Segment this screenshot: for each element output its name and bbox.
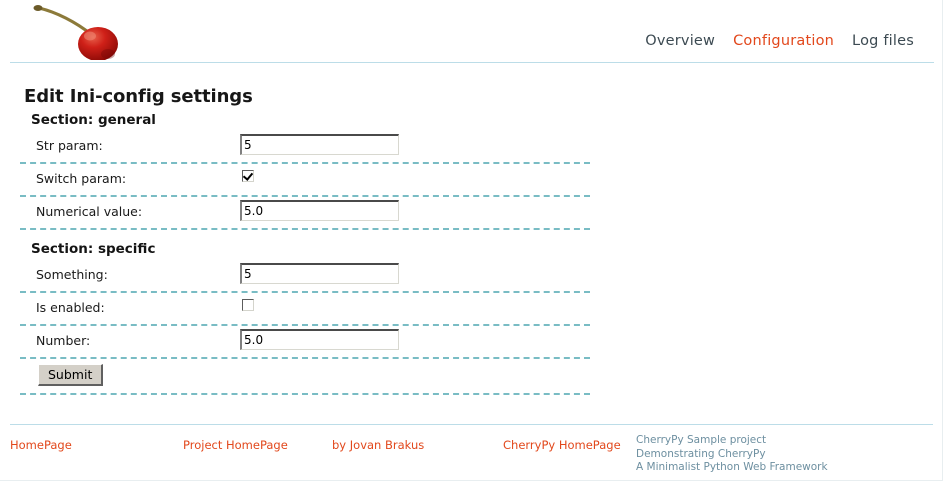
footer-divider [10, 424, 933, 425]
nav-overview[interactable]: Overview [645, 33, 715, 49]
section-heading-general: Section: general [0, 109, 943, 131]
section-heading-specific: Section: specific [0, 230, 943, 260]
footer-link-homepage[interactable]: HomePage [10, 438, 72, 452]
str-param-input[interactable] [240, 134, 399, 155]
field-row-something: Something: [0, 260, 943, 291]
page-root: Overview Configuration Log files Edit In… [0, 0, 943, 481]
is-enabled-checkbox[interactable] [242, 299, 254, 311]
footer-about: CherryPy Sample project Demonstrating Ch… [636, 434, 828, 475]
switch-param-checkbox[interactable] [242, 170, 254, 182]
field-row-is-enabled: Is enabled: [0, 293, 943, 324]
site-header: Overview Configuration Log files [0, 0, 942, 63]
footer-about-line: A Minimalist Python Web Framework [636, 461, 828, 475]
field-label: Switch param: [36, 171, 126, 186]
field-row-number: Number: [0, 326, 943, 357]
number-input[interactable] [240, 329, 399, 350]
field-label: Is enabled: [36, 300, 105, 315]
field-control [240, 329, 399, 350]
submit-button[interactable]: Submit [38, 364, 103, 386]
field-row-switch-param: Switch param: [0, 164, 943, 195]
nav-log-files[interactable]: Log files [852, 33, 914, 49]
header-divider [10, 62, 934, 63]
field-label: Something: [36, 267, 108, 282]
nav-configuration[interactable]: Configuration [733, 33, 834, 49]
page-title: Edit Ini-config settings [24, 86, 253, 107]
main-nav: Overview Configuration Log files [645, 33, 914, 49]
footer-link-cherrypy-homepage[interactable]: CherryPy HomePage [503, 438, 621, 452]
footer-about-line: CherryPy Sample project [636, 434, 828, 448]
submit-row: Submit [0, 359, 943, 393]
cherry-logo [22, 2, 132, 60]
field-control [240, 200, 399, 221]
config-form: Section: general Str param: Switch param… [0, 109, 943, 395]
field-control [240, 263, 399, 284]
field-label: Numerical value: [36, 204, 142, 219]
numerical-value-input[interactable] [240, 200, 399, 221]
footer-link-author[interactable]: by Jovan Brakus [332, 438, 424, 452]
field-label: Number: [36, 333, 90, 348]
footer-link-project-homepage[interactable]: Project HomePage [183, 438, 288, 452]
footer-about-line: Demonstrating CherryPy [636, 448, 828, 462]
field-control [240, 296, 254, 311]
field-label: Str param: [36, 138, 103, 153]
field-control [240, 167, 254, 182]
field-row-str-param: Str param: [0, 131, 943, 162]
something-input[interactable] [240, 263, 399, 284]
field-row-numerical-value: Numerical value: [0, 197, 943, 228]
row-separator [20, 393, 590, 395]
field-control [240, 134, 399, 155]
